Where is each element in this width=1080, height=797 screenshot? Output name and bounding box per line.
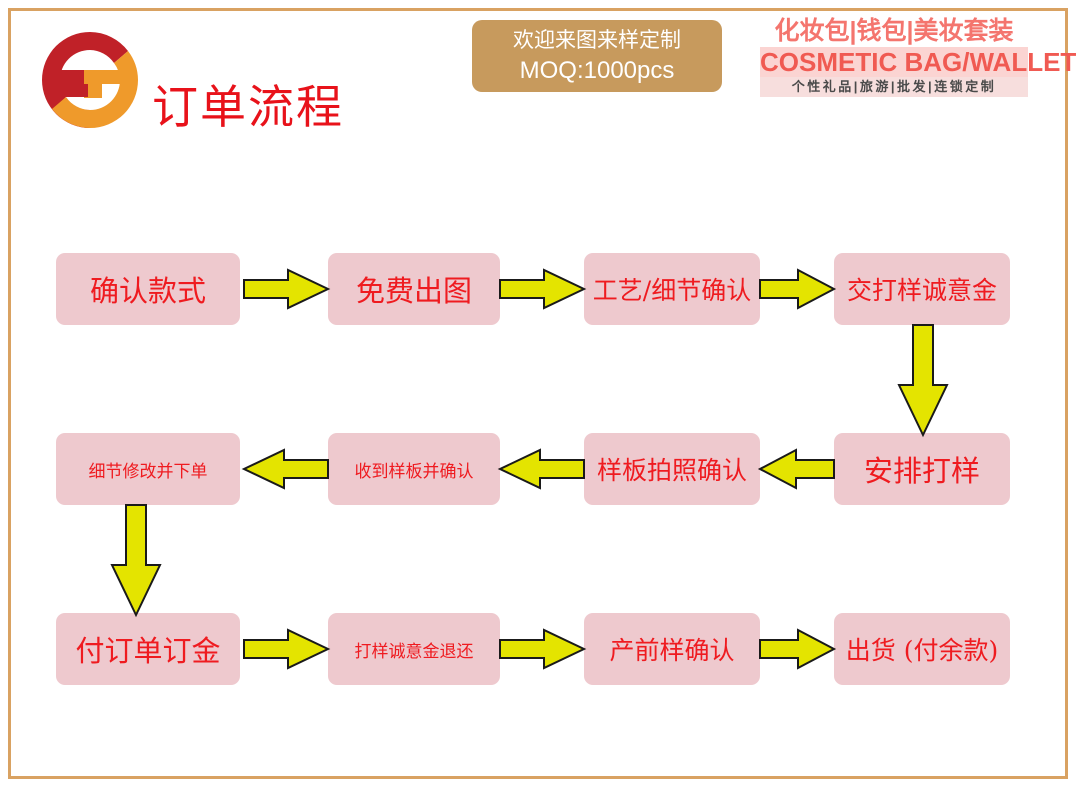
flow-node-sample-photo-confirm[interactable]: 样板拍照确认 [584, 433, 760, 505]
arrow-left-r2-b [500, 448, 584, 490]
moq-badge-line2: MOQ:1000pcs [472, 56, 722, 86]
flow-node-craft-detail-confirm[interactable]: 工艺/细节确认 [584, 253, 760, 325]
flow-node-pay-sample-deposit[interactable]: 交打样诚意金 [834, 253, 1010, 325]
flow-node-shipment-balance[interactable]: 出货 (付余款) [834, 613, 1010, 685]
flow-node-free-drawing[interactable]: 免费出图 [328, 253, 500, 325]
brand-line-english: COSMETIC BAG/WALLET [760, 47, 1028, 77]
page-title: 订单流程 [152, 82, 344, 132]
brand-line-services: 个性礼品|旅游|批发|连锁定制 [760, 77, 1028, 97]
moq-badge-line1: 欢迎来图来样定制 [472, 26, 722, 56]
arrow-right-r1-a [244, 268, 328, 310]
brand-tagline-block: 化妆包|钱包|美妆套装 COSMETIC BAG/WALLET 个性礼品|旅游|… [760, 16, 1028, 97]
arrow-left-r2-c [760, 448, 834, 490]
arrow-down-row1-to-row2 [895, 325, 951, 435]
brand-line-categories: 化妆包|钱包|美妆套装 [760, 16, 1028, 47]
company-logo [36, 26, 144, 134]
flow-node-receive-sample-confirm[interactable]: 收到样板并确认 [328, 433, 500, 505]
moq-badge: 欢迎来图来样定制 MOQ:1000pcs [472, 20, 722, 92]
arrow-right-r3-c [760, 628, 834, 670]
arrow-left-r2-a [244, 448, 328, 490]
flow-node-pay-order-deposit[interactable]: 付订单订金 [56, 613, 240, 685]
arrow-right-r3-b [500, 628, 584, 670]
arrow-right-r1-c [760, 268, 834, 310]
arrow-down-row2-to-row3 [108, 505, 164, 615]
arrow-right-r3-a [244, 628, 328, 670]
flow-node-confirm-style[interactable]: 确认款式 [56, 253, 240, 325]
poster-canvas: 订单流程 欢迎来图来样定制 MOQ:1000pcs 化妆包|钱包|美妆套装 CO… [0, 0, 1080, 797]
flow-node-detail-revise-order[interactable]: 细节修改并下单 [56, 433, 240, 505]
flow-node-pre-production-sample-confirm[interactable]: 产前样确认 [584, 613, 760, 685]
flow-node-arrange-sampling[interactable]: 安排打样 [834, 433, 1010, 505]
arrow-right-r1-b [500, 268, 584, 310]
flow-node-sample-deposit-refund[interactable]: 打样诚意金退还 [328, 613, 500, 685]
